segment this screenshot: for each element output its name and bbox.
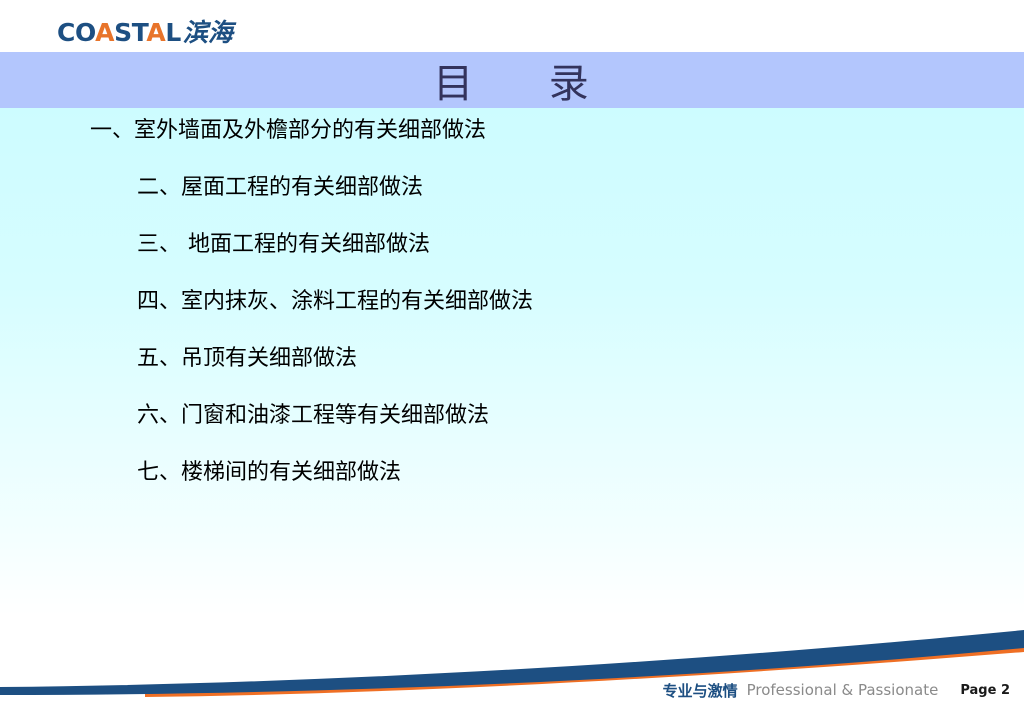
list-item[interactable]: 五、吊顶有关细部做法 bbox=[137, 348, 357, 370]
list-item[interactable]: 一、室外墙面及外檐部分的有关细部做法 bbox=[90, 120, 486, 142]
footer-slogan-cn: 专业与激情 bbox=[663, 680, 738, 701]
page-title: 目 录 bbox=[0, 52, 1024, 108]
list-item[interactable]: 四、室内抹灰、涂料工程的有关细部做法 bbox=[137, 291, 533, 313]
logo-word-part1: CO bbox=[57, 18, 95, 47]
list-item[interactable]: 六、门窗和油漆工程等有关细部做法 bbox=[137, 405, 489, 427]
slide-canvas: COASTAL 滨海 目 录 一、室外墙面及外檐部分的有关细部做法 二、屋面工程… bbox=[0, 0, 1024, 709]
logo-word-accent1: A bbox=[95, 18, 114, 47]
footer: 专业与激情 Professional & Passionate Page 2 bbox=[0, 676, 1024, 704]
company-logo: COASTAL 滨海 bbox=[57, 17, 233, 47]
list-item[interactable]: 二、屋面工程的有关细部做法 bbox=[137, 177, 423, 199]
list-item[interactable]: 三、 地面工程的有关细部做法 bbox=[137, 234, 430, 256]
footer-slogan-en: Professional & Passionate bbox=[747, 681, 939, 699]
page-number: Page 2 bbox=[960, 683, 1010, 698]
list-item[interactable]: 七、楼梯间的有关细部做法 bbox=[137, 462, 401, 484]
logo-word-part3: L bbox=[165, 18, 181, 47]
logo-wordmark: COASTAL bbox=[57, 20, 181, 45]
logo-word-part2: ST bbox=[114, 18, 146, 47]
logo-word-accent2: A bbox=[146, 18, 165, 47]
logo-chinese-mark: 滨海 bbox=[183, 20, 233, 45]
